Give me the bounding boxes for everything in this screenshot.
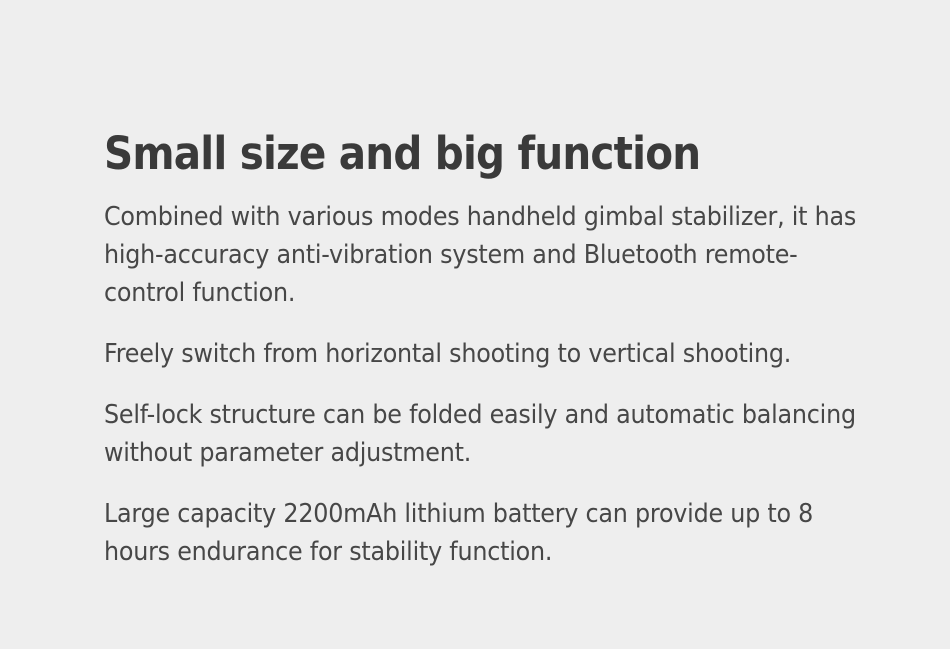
feature-paragraph: Self-lock structure can be folded easily… [104, 396, 861, 472]
page-title: Small size and big function [104, 126, 806, 182]
feature-paragraph-list: Combined with various modes handheld gim… [104, 198, 884, 571]
feature-paragraph: Freely switch from horizontal shooting t… [104, 335, 861, 373]
feature-paragraph: Large capacity 2200mAh lithium battery c… [104, 495, 861, 571]
feature-description-panel: Small size and big function Combined wit… [0, 0, 950, 649]
feature-content: Small size and big function Combined wit… [104, 126, 884, 571]
feature-paragraph: Combined with various modes handheld gim… [104, 198, 861, 312]
